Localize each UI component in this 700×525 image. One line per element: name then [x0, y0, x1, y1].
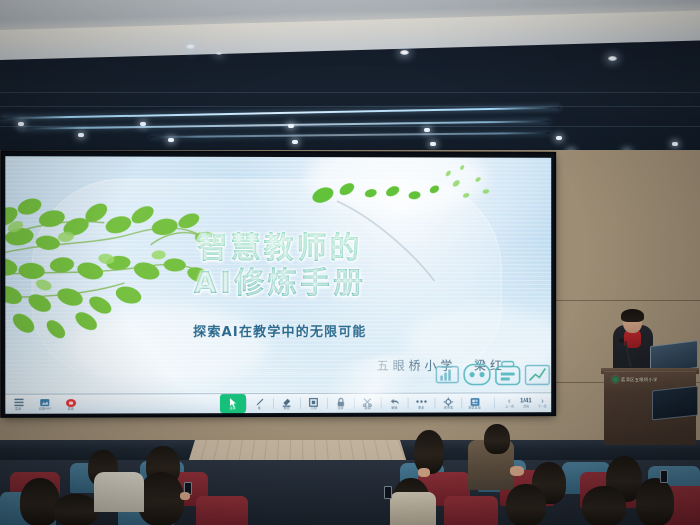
- ceiling-spotlight: [288, 124, 294, 128]
- ceiling-spotlight: [430, 142, 436, 146]
- tool-crop-button[interactable]: 裁剪: [355, 394, 381, 413]
- slide-author-line: 五眼桥小学梁红: [5, 357, 505, 375]
- slide-title: 智慧教师的 AI修炼手册: [5, 231, 551, 302]
- page-indicator[interactable]: 1/41 页码: [520, 398, 532, 408]
- multi-screen-icon: [470, 397, 480, 406]
- ceiling-spotlight: [292, 140, 298, 144]
- slide-tech-icons: [434, 357, 551, 393]
- audience-head: [138, 472, 184, 525]
- laser-pointer-icon: [443, 397, 453, 406]
- ceiling-spotlight: [168, 138, 174, 142]
- tool-shape-label: 几何: [311, 406, 317, 409]
- audience-hand: [510, 466, 524, 476]
- scissors-icon: [363, 397, 372, 406]
- shape-square-icon: [309, 397, 318, 406]
- ceiling-spotlight: [556, 136, 562, 140]
- slide-title-line2: AI修炼手册: [5, 266, 551, 302]
- tool-multiscreen-button[interactable]: 多屏互动: [462, 393, 488, 412]
- ceiling-spotlight: [672, 142, 678, 146]
- podium-second-laptop: [652, 386, 698, 421]
- audience-person-coat: [94, 472, 144, 512]
- tool-multiscreen-label: 多屏互动: [468, 406, 481, 409]
- auditorium-photo: 智慧教师的 AI修炼手册 探索AI在教学中的无限可能 五眼桥小学梁红: [0, 0, 700, 525]
- audience-phone: [384, 486, 392, 499]
- presentation-slide[interactable]: 智慧教师的 AI修炼手册 探索AI在教学中的无限可能 五眼桥小学梁红: [5, 156, 551, 394]
- presentation-toolbar[interactable]: 菜单 切换PPT 退出: [5, 392, 551, 414]
- podium-sign-text: 荔湾区五眼桥小学: [621, 377, 658, 383]
- slide-switch-icon: [40, 398, 50, 407]
- audience-person-coat: [390, 492, 436, 525]
- audience-head: [636, 478, 674, 525]
- prev-page-button[interactable]: ‹ 上一页: [506, 397, 514, 408]
- ceiling-downlight: [186, 44, 195, 49]
- tool-more-button[interactable]: 更多: [408, 394, 434, 413]
- tool-undo-label: 撤销: [391, 406, 397, 409]
- page-counter-label: 页码: [523, 405, 529, 408]
- audience-hand: [418, 468, 430, 477]
- toolbar-left-group: 菜单 切换PPT 退出: [5, 395, 84, 414]
- slide-subtitle: 探索AI在教学中的无限可能: [5, 321, 551, 341]
- audience-head: [20, 478, 60, 525]
- tool-lock-label: 锁屏: [337, 406, 343, 409]
- ellipsis-icon: [415, 397, 427, 406]
- ceiling-spotlight: [78, 133, 84, 137]
- switch-ppt-label: 切换PPT: [38, 407, 51, 411]
- next-page-button[interactable]: › 下一页: [539, 397, 547, 408]
- menu-label: 菜单: [15, 407, 22, 410]
- exit-record-icon: [66, 398, 76, 407]
- undo-arrow-icon: [389, 397, 399, 406]
- tool-eraser-button[interactable]: 橡皮: [274, 394, 300, 413]
- tool-eraser-label: 橡皮: [284, 406, 290, 409]
- tool-pen-button[interactable]: 笔: [247, 394, 273, 413]
- exit-label: 退出: [68, 407, 74, 410]
- ceiling-spotlight: [140, 122, 146, 126]
- ceiling-downlight: [216, 52, 222, 55]
- ceiling-downlight: [608, 56, 617, 61]
- audience-head: [582, 486, 626, 525]
- lock-icon: [337, 397, 345, 406]
- microphone-head: [619, 338, 624, 343]
- audience-head: [484, 424, 510, 454]
- presenter-hair: [621, 309, 644, 322]
- podium-sign: 荔湾区五眼桥小学: [612, 375, 692, 384]
- slide-pager: ‹ 上一页 1/41 页码 › 下一页: [501, 397, 552, 408]
- prev-page-label: 上一页: [505, 405, 514, 408]
- tool-shape-button[interactable]: 几何: [301, 394, 327, 413]
- tool-lock-button[interactable]: 锁屏: [328, 394, 354, 413]
- audience-phone: [660, 470, 668, 483]
- cursor-select-icon: [229, 398, 237, 407]
- page-counter-text: 1/41: [520, 398, 532, 405]
- menu-button[interactable]: 菜单: [5, 395, 31, 414]
- tool-select-label: 选择: [229, 406, 235, 409]
- audience-head: [506, 484, 546, 525]
- tool-undo-button[interactable]: 撤销: [381, 394, 407, 413]
- switch-ppt-button[interactable]: 切换PPT: [32, 395, 58, 414]
- exit-button[interactable]: 退出: [58, 395, 84, 414]
- hamburger-menu-icon: [14, 398, 23, 407]
- tool-pen-label: 笔: [258, 406, 261, 409]
- audience-head: [54, 494, 98, 525]
- tool-more-label: 更多: [418, 406, 424, 409]
- school-crest-icon: [612, 376, 619, 383]
- tool-crop-label: 裁剪: [364, 406, 370, 409]
- tool-laser-button[interactable]: 激光笔: [435, 394, 461, 413]
- toolbar-divider: [494, 397, 495, 408]
- audience-hand: [180, 492, 190, 500]
- ceiling-dark-area: [0, 40, 700, 165]
- projection-screen[interactable]: 智慧教师的 AI修炼手册 探索AI在教学中的无限可能 五眼桥小学梁红: [2, 152, 554, 416]
- seat: [444, 496, 498, 525]
- next-page-label: 下一页: [538, 405, 547, 408]
- pen-icon: [255, 398, 264, 407]
- ceiling-rail: [0, 106, 700, 107]
- ceiling-spotlight: [18, 122, 24, 126]
- slide-title-line1: 智慧教师的: [197, 231, 362, 266]
- tool-laser-label: 激光笔: [443, 406, 453, 409]
- toolbar-tools-group: 选择 笔 橡皮: [220, 393, 488, 413]
- ceiling-spotlight: [424, 128, 430, 132]
- ceiling-downlight: [400, 50, 409, 55]
- eraser-icon: [282, 397, 291, 406]
- seat: [196, 496, 248, 525]
- tool-select-button[interactable]: 选择: [220, 394, 246, 413]
- ceiling-rail: [0, 92, 700, 93]
- audience-head: [414, 430, 444, 474]
